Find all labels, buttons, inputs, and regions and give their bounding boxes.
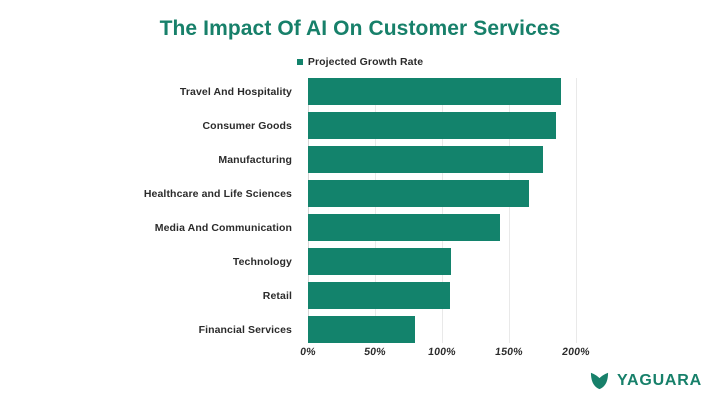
bar-row: [308, 180, 576, 207]
bar-series: [308, 78, 576, 343]
legend-swatch-icon: [297, 59, 303, 65]
category-row: Technology: [60, 248, 300, 275]
bar-row: [308, 248, 576, 275]
category-label: Manufacturing: [218, 154, 300, 166]
bar: [308, 282, 450, 309]
plot-area: [308, 78, 576, 343]
brand-logo: YAGUARA: [589, 370, 702, 391]
bar: [308, 112, 556, 139]
axis-tick-label: 200%: [561, 346, 590, 358]
axis-tick-label: 150%: [494, 346, 523, 358]
bar: [308, 78, 561, 105]
bar: [308, 316, 415, 343]
bar-row: [308, 78, 576, 105]
chart-slide: The Impact Of AI On Customer Services Pr…: [0, 0, 720, 405]
bar: [308, 214, 500, 241]
shield-icon: [589, 370, 610, 391]
bar-row: [308, 282, 576, 309]
category-label: Consumer Goods: [203, 120, 301, 132]
axis-tick-label: 50%: [363, 346, 386, 358]
bar: [308, 180, 529, 207]
bar-row: [308, 214, 576, 241]
bar: [308, 146, 543, 173]
chart-legend: Projected Growth Rate: [0, 56, 720, 68]
category-row: Retail: [60, 282, 300, 309]
category-row: Media And Communication: [60, 214, 300, 241]
category-label: Media And Communication: [155, 222, 300, 234]
category-row: Healthcare and Life Sciences: [60, 180, 300, 207]
gridline: [576, 78, 577, 343]
category-label: Financial Services: [199, 324, 300, 336]
bar-row: [308, 112, 576, 139]
brand-name: YAGUARA: [617, 372, 702, 390]
category-row: Financial Services: [60, 316, 300, 343]
bar: [308, 248, 451, 275]
bar-row: [308, 316, 576, 343]
category-row: Manufacturing: [60, 146, 300, 173]
axis-tick-label: 0%: [299, 346, 316, 358]
legend-item-label: Projected Growth Rate: [308, 56, 423, 68]
category-row: Travel And Hospitality: [60, 78, 300, 105]
value-axis: 0%50%100%150%200%: [308, 346, 576, 364]
bar-row: [308, 146, 576, 173]
category-label: Technology: [233, 256, 300, 268]
category-label: Retail: [263, 290, 300, 302]
category-label: Healthcare and Life Sciences: [144, 188, 300, 200]
category-row: Consumer Goods: [60, 112, 300, 139]
page-title: The Impact Of AI On Customer Services: [0, 17, 720, 41]
category-label: Travel And Hospitality: [180, 86, 300, 98]
axis-tick-label: 100%: [427, 346, 456, 358]
category-axis: Travel And Hospitality Consumer Goods Ma…: [60, 78, 300, 343]
